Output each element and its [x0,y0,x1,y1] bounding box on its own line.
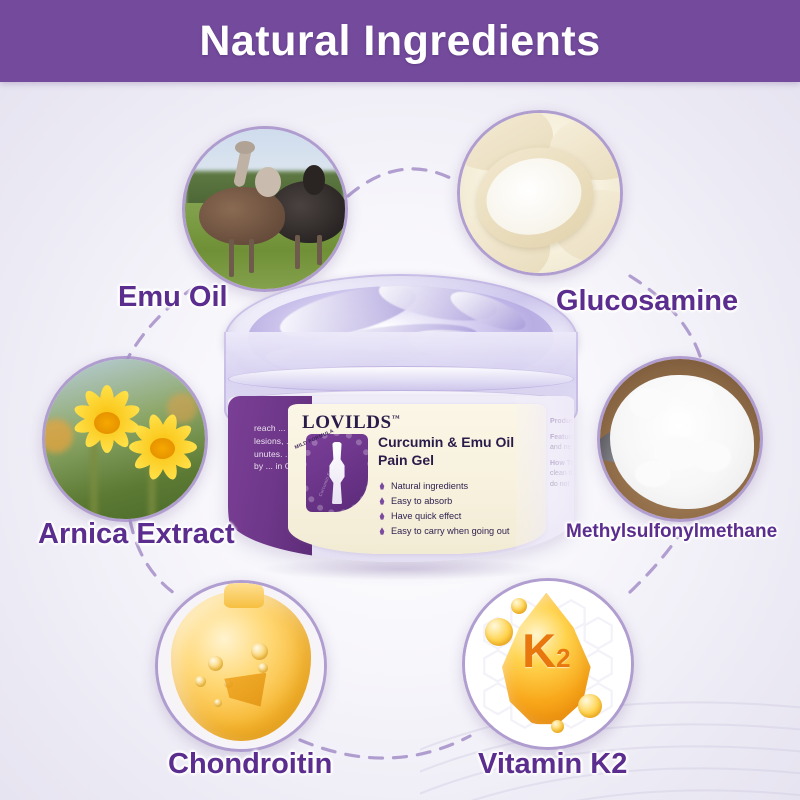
ingredient-image-chondroitin [155,580,327,752]
header-banner: Natural Ingredients [0,0,800,82]
ingredient-label-glucosamine: Glucosamine [556,285,738,318]
ingredient-image-emu-oil [182,126,348,292]
jar-front-label: LOVILDS™ Curcumin Emu Oil MILD FORMULA C… [288,404,546,554]
trademark-symbol: ™ [392,414,401,423]
ingredient-image-methylsulfonylmethane [597,356,763,522]
ingredient-label-vitamin-k2: Vitamin K2 [478,748,627,781]
cream-powder-bowl-photo [460,113,620,273]
jar-body: reach ... on lesions, ... unutes. ... ec… [228,396,574,562]
emu-birds-field-photo [185,129,345,289]
vitamin-k2-droplet-icon: K2 [465,581,631,747]
ingredient-label-chondroitin: Chondroitin [168,748,332,781]
infographic-poster: Natural Ingredients Emu Oil [0,0,800,800]
ingredient-image-glucosamine [457,110,623,276]
ingredient-image-arnica-extract [42,356,208,522]
ingredient-label-methylsulfonylmethane: Methylsulfonylmethane [566,521,777,543]
white-powder-spoon-photo [600,359,760,519]
product-jar: reach ... on lesions, ... unutes. ... ec… [206,274,596,574]
yellow-arnica-flowers-photo [45,359,205,519]
jar-thread-ring [228,366,574,392]
ingredient-label-emu-oil: Emu Oil [118,281,228,314]
ingredient-image-vitamin-k2: K2 [462,578,634,750]
page-title: Natural Ingredients [199,17,600,66]
ingredient-label-arnica-extract: Arnica Extract [38,518,235,551]
amber-gel-droplet-photo [158,583,324,749]
